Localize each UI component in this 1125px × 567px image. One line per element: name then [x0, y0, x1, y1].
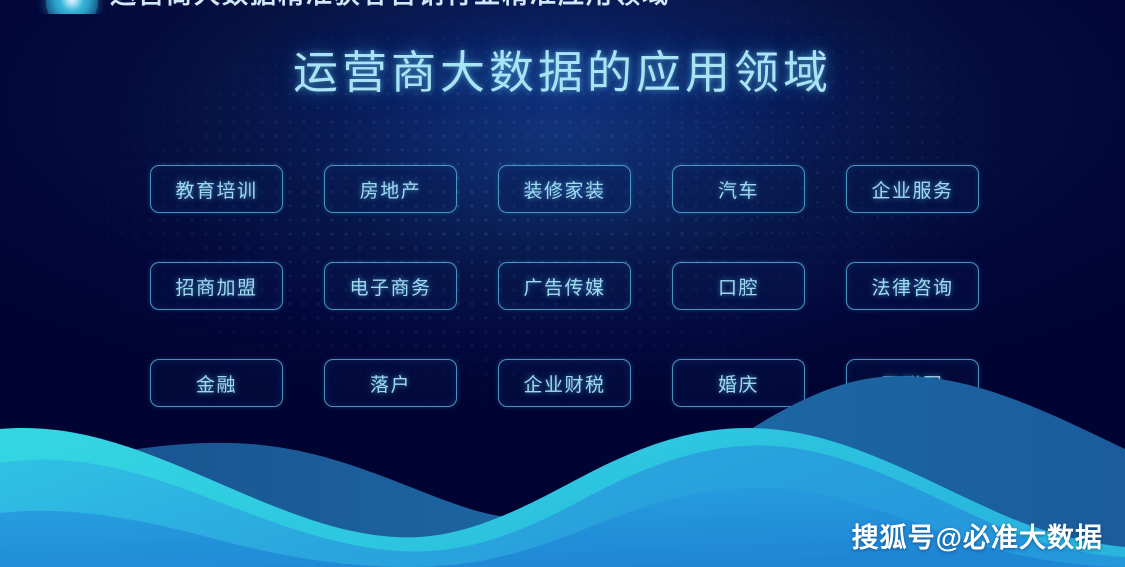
tag-button[interactable]: 电子商务 — [324, 262, 457, 310]
page-title: 运营商大数据的应用领域 — [0, 44, 1125, 102]
tag-button[interactable]: 法律咨询 — [846, 262, 979, 310]
tag-button[interactable]: 广告传媒 — [498, 262, 631, 310]
tag-row: 招商加盟 电子商务 广告传媒 口腔 法律咨询 — [150, 262, 980, 310]
watermark: 搜狐号@必准大数据 — [852, 516, 1103, 555]
tag-row: 教育培训 房地产 装修家装 汽车 企业服务 — [150, 165, 980, 213]
tag-button[interactable]: 教育培训 — [150, 165, 283, 213]
tag-button[interactable]: 招商加盟 — [150, 262, 283, 310]
tag-button[interactable]: 装修家装 — [498, 165, 631, 213]
tag-button[interactable]: 汽车 — [672, 165, 805, 213]
tag-button[interactable]: 企业服务 — [846, 165, 979, 213]
tag-button[interactable]: 落户 — [324, 359, 457, 407]
tag-button[interactable]: 互联网 — [846, 359, 979, 407]
tag-button[interactable]: 口腔 — [672, 262, 805, 310]
application-fields-grid: 教育培训 房地产 装修家装 汽车 企业服务 招商加盟 电子商务 广告传媒 口腔 … — [150, 165, 980, 407]
tag-button[interactable]: 房地产 — [324, 165, 457, 213]
tag-button[interactable]: 婚庆 — [672, 359, 805, 407]
slide-canvas: 运营商大数据精准获客营销行业精准应用领域 运营商大数据的应用领域 教育培训 房地… — [0, 0, 1125, 567]
tag-row: 金融 落户 企业财税 婚庆 互联网 — [150, 359, 980, 407]
tag-button[interactable]: 企业财税 — [498, 359, 631, 407]
tag-button[interactable]: 金融 — [150, 359, 283, 407]
